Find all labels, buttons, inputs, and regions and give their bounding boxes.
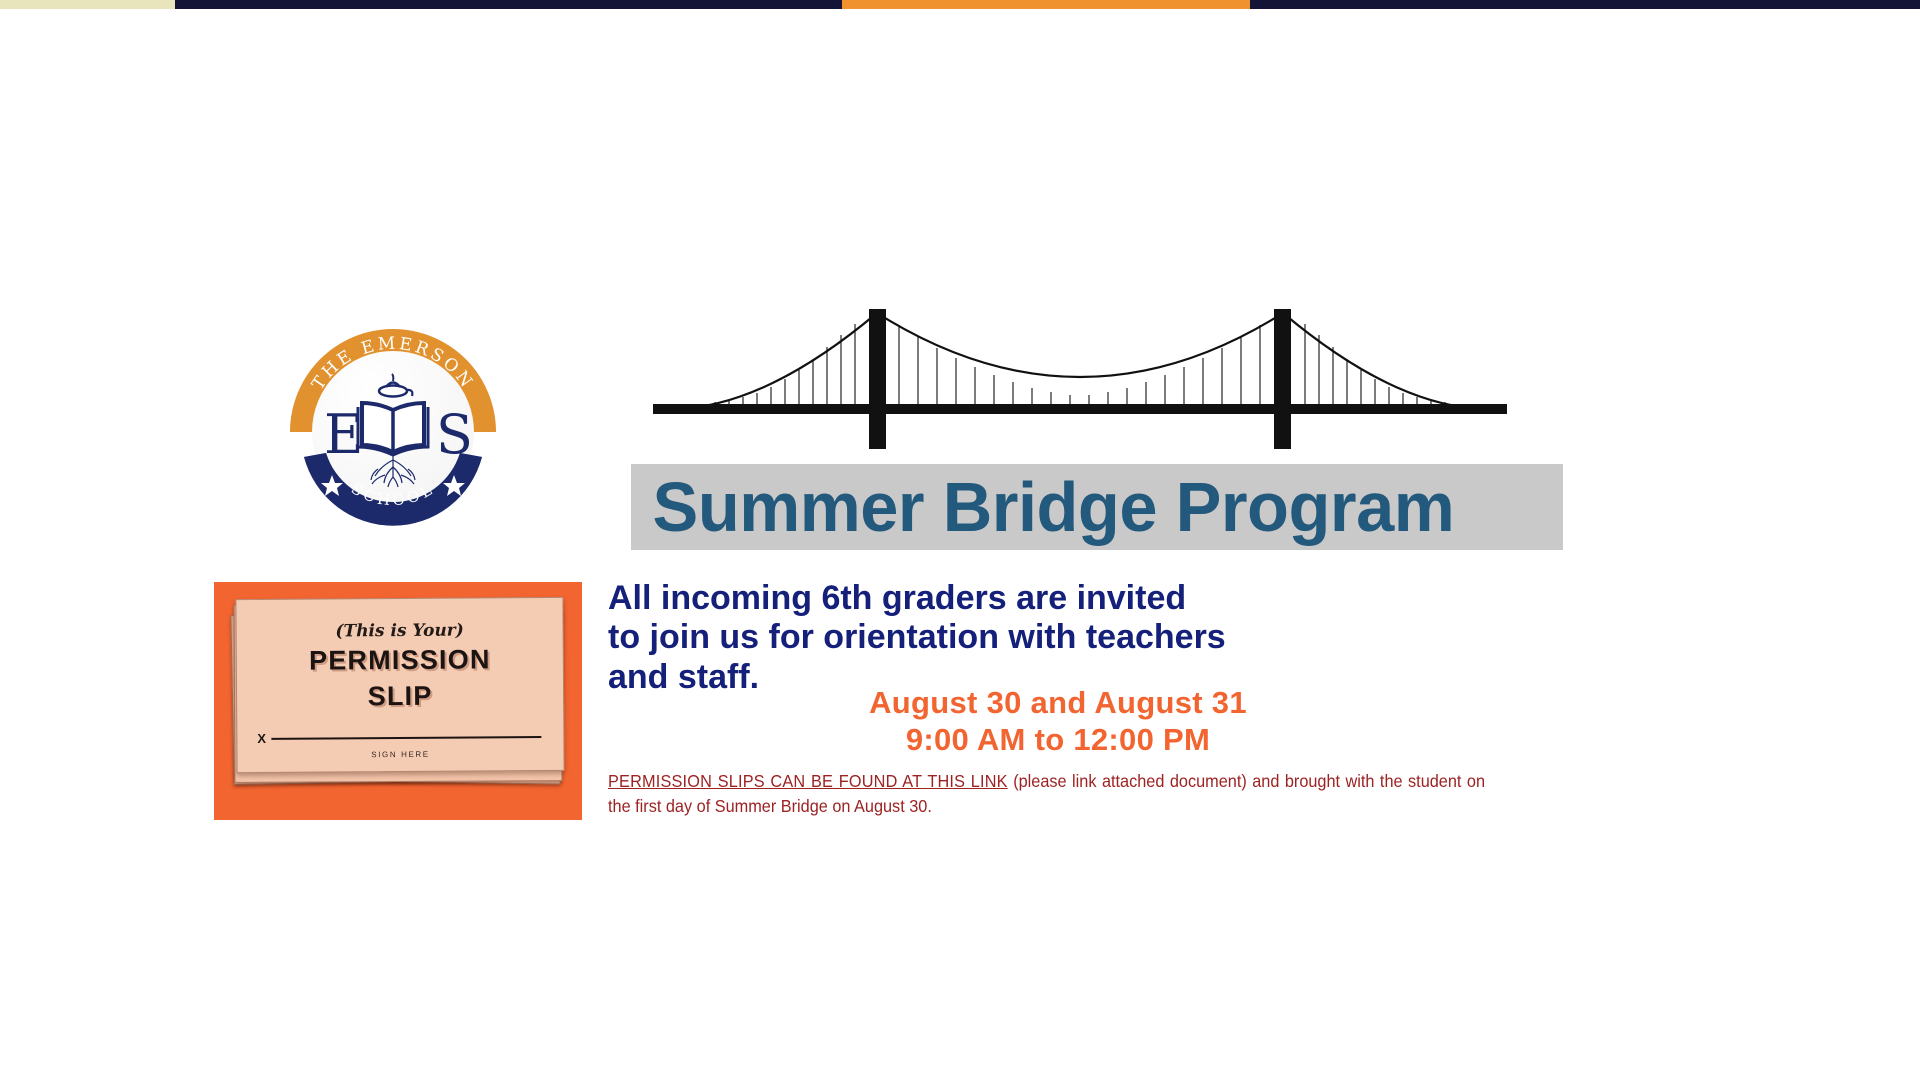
cream-segment [0, 0, 175, 9]
slip-headline-line1: PERMISSION [237, 644, 563, 677]
page-title: Summer Bridge Program [631, 472, 1454, 542]
school-seal-icon: THE EMERSON SCHOOL E S [288, 327, 498, 537]
bridge-graphic [645, 291, 1515, 456]
slip-script-line: (This is Your) [237, 620, 563, 642]
program-title-band: Summer Bridge Program [631, 464, 1563, 550]
slip-signature-line [271, 736, 541, 740]
browser-top-strip [0, 0, 1920, 9]
invitation-text: All incoming 6th graders are invited to … [608, 579, 1468, 697]
slip-top-sheet: (This is Your) PERMISSION SLIP X SIGN HE… [235, 597, 564, 773]
orange-segment [842, 0, 1250, 9]
svg-text:S: S [436, 403, 473, 466]
permission-slip-image: (This is Your) PERMISSION SLIP X SIGN HE… [214, 582, 582, 820]
school-logo: THE EMERSON SCHOOL E S [288, 327, 498, 537]
navy-segment-left [175, 0, 842, 9]
slip-signature-row: X [257, 729, 541, 746]
permission-slip-note: PERMISSION SLIPS CAN BE FOUND AT THIS LI… [608, 769, 1485, 819]
navy-segment-right [1250, 0, 1920, 9]
event-time-line: 9:00 AM to 12:00 PM [608, 722, 1508, 759]
suspension-bridge-icon [645, 291, 1515, 456]
event-date-line: August 30 and August 31 [608, 685, 1508, 722]
slip-headline-line2: SLIP [237, 680, 563, 713]
permission-slip-link[interactable]: PERMISSION SLIPS CAN BE FOUND AT THIS LI… [608, 771, 1008, 791]
flyer-canvas: THE EMERSON SCHOOL E S [0, 9, 1920, 1080]
event-dates-block: August 30 and August 31 9:00 AM to 12:00… [608, 685, 1508, 758]
slip-signature-marker: X [257, 731, 266, 746]
slip-sign-here-caption: SIGN HERE [237, 749, 563, 760]
